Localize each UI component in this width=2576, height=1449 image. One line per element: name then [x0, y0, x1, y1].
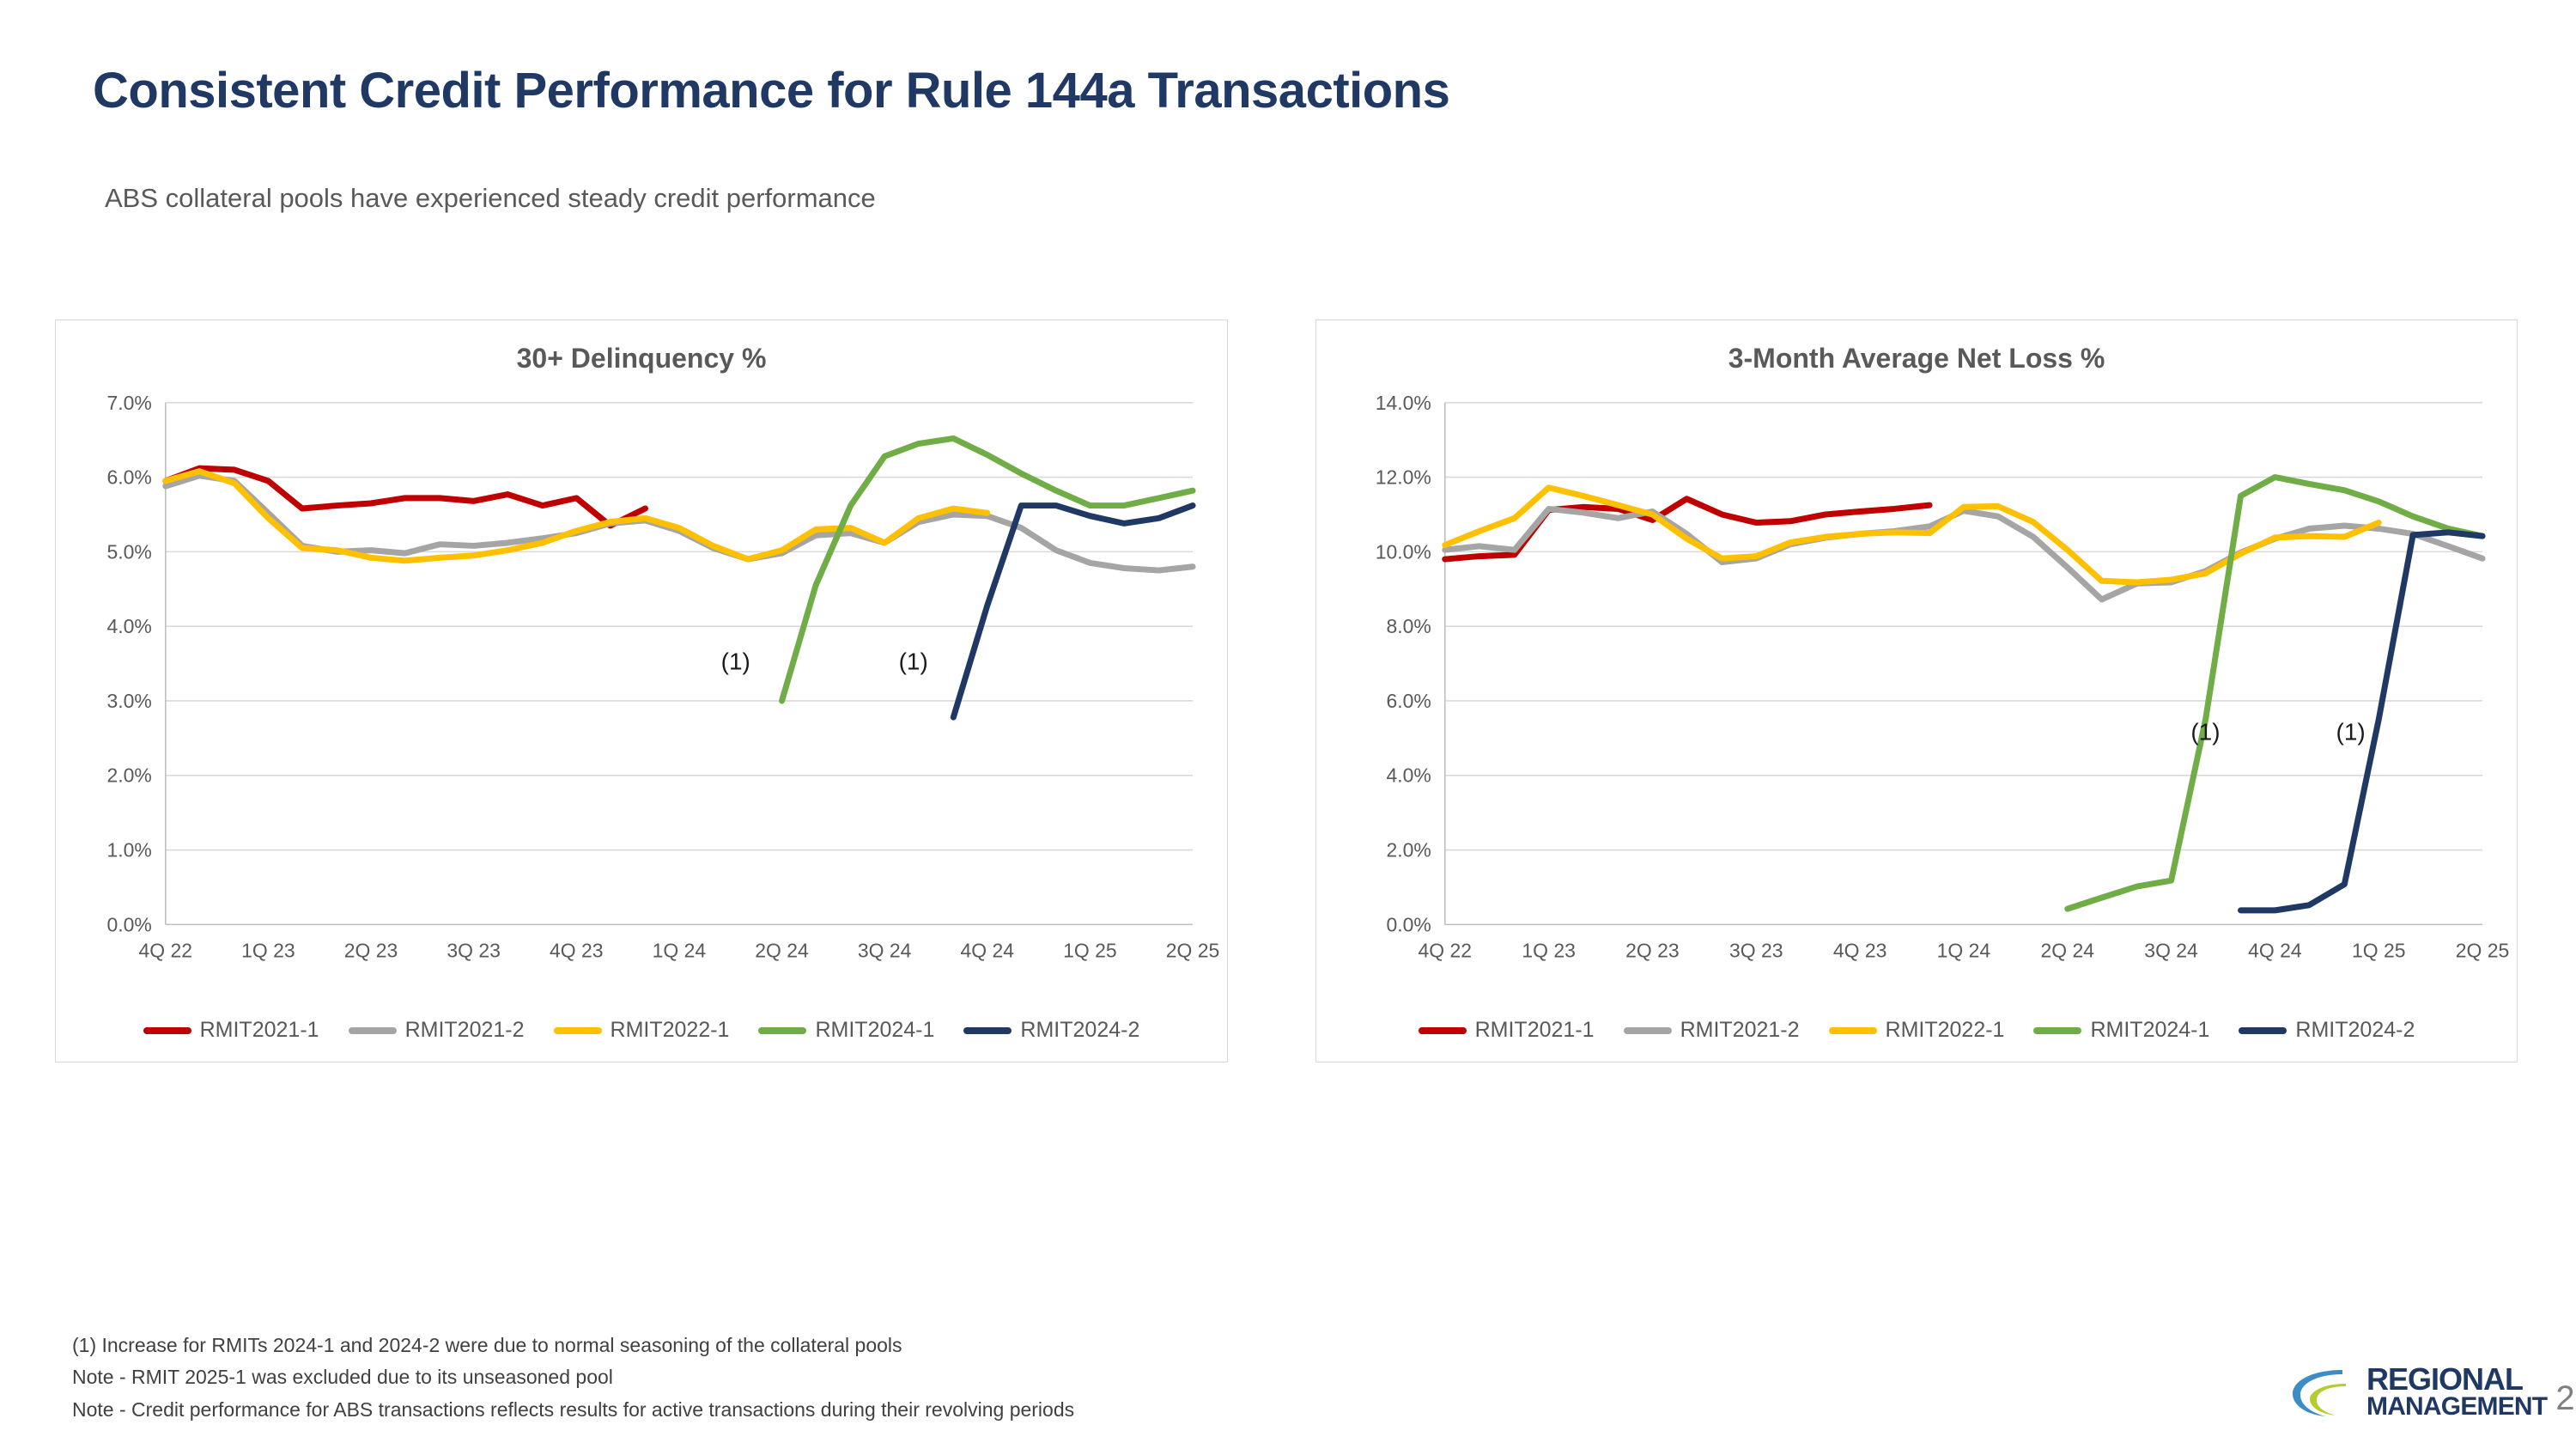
legend-swatch-icon [2033, 1027, 2081, 1034]
x-axis-tick-label: 3Q 23 [1729, 939, 1783, 961]
y-axis-tick-label: 7.0% [107, 392, 152, 414]
y-axis-tick-label: 10.0% [1376, 540, 1431, 563]
legend-swatch-icon [349, 1027, 397, 1034]
legend-item-rmit2024-1[interactable]: RMIT2024-1 [758, 1018, 934, 1043]
legend-label: RMIT2021-1 [200, 1018, 319, 1043]
legend-item-rmit2022-1[interactable]: RMIT2022-1 [1829, 1018, 2005, 1043]
legend-swatch-icon [758, 1027, 806, 1034]
chart-delinquency: 0.0%1.0%2.0%3.0%4.0%5.0%6.0%7.0%4Q 221Q … [56, 320, 1227, 1062]
x-axis-tick-label: 1Q 25 [1063, 939, 1117, 961]
page-number: 27 [2555, 1379, 2576, 1420]
company-logo: REGIONAL MANAGEMENT 27 [2289, 1364, 2576, 1420]
y-axis-tick-label: 5.0% [107, 540, 152, 563]
chart-panel-delinquency: 30+ Delinquency % 0.0%1.0%2.0%3.0%4.0%5.… [55, 320, 1228, 1062]
logo-line-management: MANAGEMENT [2366, 1394, 2547, 1419]
legend-label: RMIT2022-1 [611, 1018, 730, 1043]
legend-label: RMIT2024-1 [815, 1018, 934, 1043]
x-axis-tick-label: 1Q 24 [1937, 939, 1991, 961]
x-axis-tick-label: 4Q 24 [961, 939, 1015, 961]
y-axis-tick-label: 0.0% [1386, 913, 1431, 935]
x-axis-tick-label: 3Q 24 [2144, 939, 2198, 961]
y-axis-tick-label: 2.0% [1386, 839, 1431, 861]
series-line-rmit2024-1 [2068, 478, 2482, 910]
legend-item-rmit2022-1[interactable]: RMIT2022-1 [554, 1018, 730, 1043]
legend-swatch-icon [1829, 1027, 1877, 1034]
footnote-line: Note - RMIT 2025-1 was excluded due to i… [72, 1361, 1074, 1393]
legend-label: RMIT2021-2 [1680, 1018, 1800, 1043]
x-axis-tick-label: 2Q 24 [2040, 939, 2094, 961]
legend-label: RMIT2024-2 [2295, 1018, 2415, 1043]
legend-label: RMIT2024-1 [2090, 1018, 2209, 1043]
legend-item-rmit2021-1[interactable]: RMIT2021-1 [1419, 1018, 1595, 1043]
series-line-rmit2024-2 [953, 506, 1193, 718]
chart-annotation-marker: (1) [2336, 719, 2366, 746]
legend-swatch-icon [143, 1027, 191, 1034]
y-axis-tick-label: 4.0% [1386, 764, 1431, 787]
x-axis-tick-label: 2Q 23 [344, 939, 398, 961]
legend-label: RMIT2022-1 [1886, 1018, 2005, 1043]
x-axis-tick-label: 3Q 24 [858, 939, 912, 961]
footnotes: (1) Increase for RMITs 2024-1 and 2024-2… [72, 1330, 1074, 1426]
x-axis-tick-label: 1Q 25 [2352, 939, 2406, 961]
y-axis-tick-label: 4.0% [107, 615, 152, 637]
logo-text: REGIONAL MANAGEMENT [2366, 1364, 2547, 1420]
y-axis-tick-label: 8.0% [1386, 615, 1431, 637]
legend-item-rmit2024-2[interactable]: RMIT2024-2 [963, 1018, 1139, 1043]
legend-item-rmit2021-2[interactable]: RMIT2021-2 [1624, 1018, 1800, 1043]
chart-legend-net-loss: RMIT2021-1RMIT2021-2RMIT2022-1RMIT2024-1… [1316, 1018, 2517, 1043]
chart-annotation-marker: (1) [721, 648, 750, 675]
x-axis-tick-label: 4Q 23 [550, 939, 604, 961]
y-axis-tick-label: 12.0% [1376, 466, 1431, 489]
x-axis-tick-label: 4Q 22 [139, 939, 193, 961]
chart-panel-net-loss: 3-Month Average Net Loss % 0.0%2.0%4.0%6… [1315, 320, 2518, 1062]
logo-swoosh-icon [2289, 1367, 2358, 1420]
chart-annotation-marker: (1) [899, 648, 928, 675]
logo-line-regional: REGIONAL [2366, 1364, 2547, 1394]
y-axis-tick-label: 14.0% [1376, 392, 1431, 414]
legend-swatch-icon [963, 1027, 1012, 1034]
x-axis-tick-label: 1Q 23 [241, 939, 295, 961]
chart-legend-delinquency: RMIT2021-1RMIT2021-2RMIT2022-1RMIT2024-1… [56, 1018, 1227, 1043]
footnote-line: Note - Credit performance for ABS transa… [72, 1394, 1074, 1426]
x-axis-tick-label: 2Q 24 [755, 939, 809, 961]
legend-label: RMIT2024-2 [1020, 1018, 1139, 1043]
x-axis-tick-label: 3Q 23 [447, 939, 501, 961]
x-axis-tick-label: 4Q 22 [1419, 939, 1473, 961]
x-axis-tick-label: 4Q 24 [2248, 939, 2302, 961]
x-axis-tick-label: 2Q 23 [1625, 939, 1680, 961]
legend-item-rmit2024-2[interactable]: RMIT2024-2 [2239, 1018, 2415, 1043]
y-axis-tick-label: 6.0% [107, 466, 152, 489]
y-axis-tick-label: 6.0% [1386, 690, 1431, 712]
series-line-rmit2021-2 [1445, 508, 2482, 599]
footnote-line: (1) Increase for RMITs 2024-1 and 2024-2… [72, 1330, 1074, 1361]
x-axis-tick-label: 2Q 25 [2456, 939, 2510, 961]
y-axis-tick-label: 1.0% [107, 839, 152, 861]
chart-annotation-marker: (1) [2190, 719, 2220, 746]
series-line-rmit2021-2 [166, 476, 1193, 570]
x-axis-tick-label: 1Q 23 [1522, 939, 1576, 961]
legend-item-rmit2021-2[interactable]: RMIT2021-2 [349, 1018, 525, 1043]
y-axis-tick-label: 2.0% [107, 764, 152, 787]
page-title: Consistent Credit Performance for Rule 1… [93, 62, 1449, 119]
legend-item-rmit2024-1[interactable]: RMIT2024-1 [2033, 1018, 2209, 1043]
legend-swatch-icon [1419, 1027, 1467, 1034]
y-axis-tick-label: 0.0% [107, 913, 152, 935]
slide: Consistent Credit Performance for Rule 1… [0, 0, 2576, 1449]
page-subtitle: ABS collateral pools have experienced st… [105, 183, 876, 214]
legend-swatch-icon [1624, 1027, 1672, 1034]
legend-label: RMIT2021-2 [405, 1018, 525, 1043]
legend-item-rmit2021-1[interactable]: RMIT2021-1 [143, 1018, 319, 1043]
y-axis-tick-label: 3.0% [107, 690, 152, 712]
legend-label: RMIT2021-1 [1475, 1018, 1595, 1043]
legend-swatch-icon [2239, 1027, 2287, 1034]
x-axis-tick-label: 1Q 24 [653, 939, 707, 961]
x-axis-tick-label: 2Q 25 [1166, 939, 1220, 961]
x-axis-tick-label: 4Q 23 [1833, 939, 1887, 961]
chart-net-loss: 0.0%2.0%4.0%6.0%8.0%10.0%12.0%14.0%4Q 22… [1316, 320, 2517, 1062]
legend-swatch-icon [554, 1027, 602, 1034]
